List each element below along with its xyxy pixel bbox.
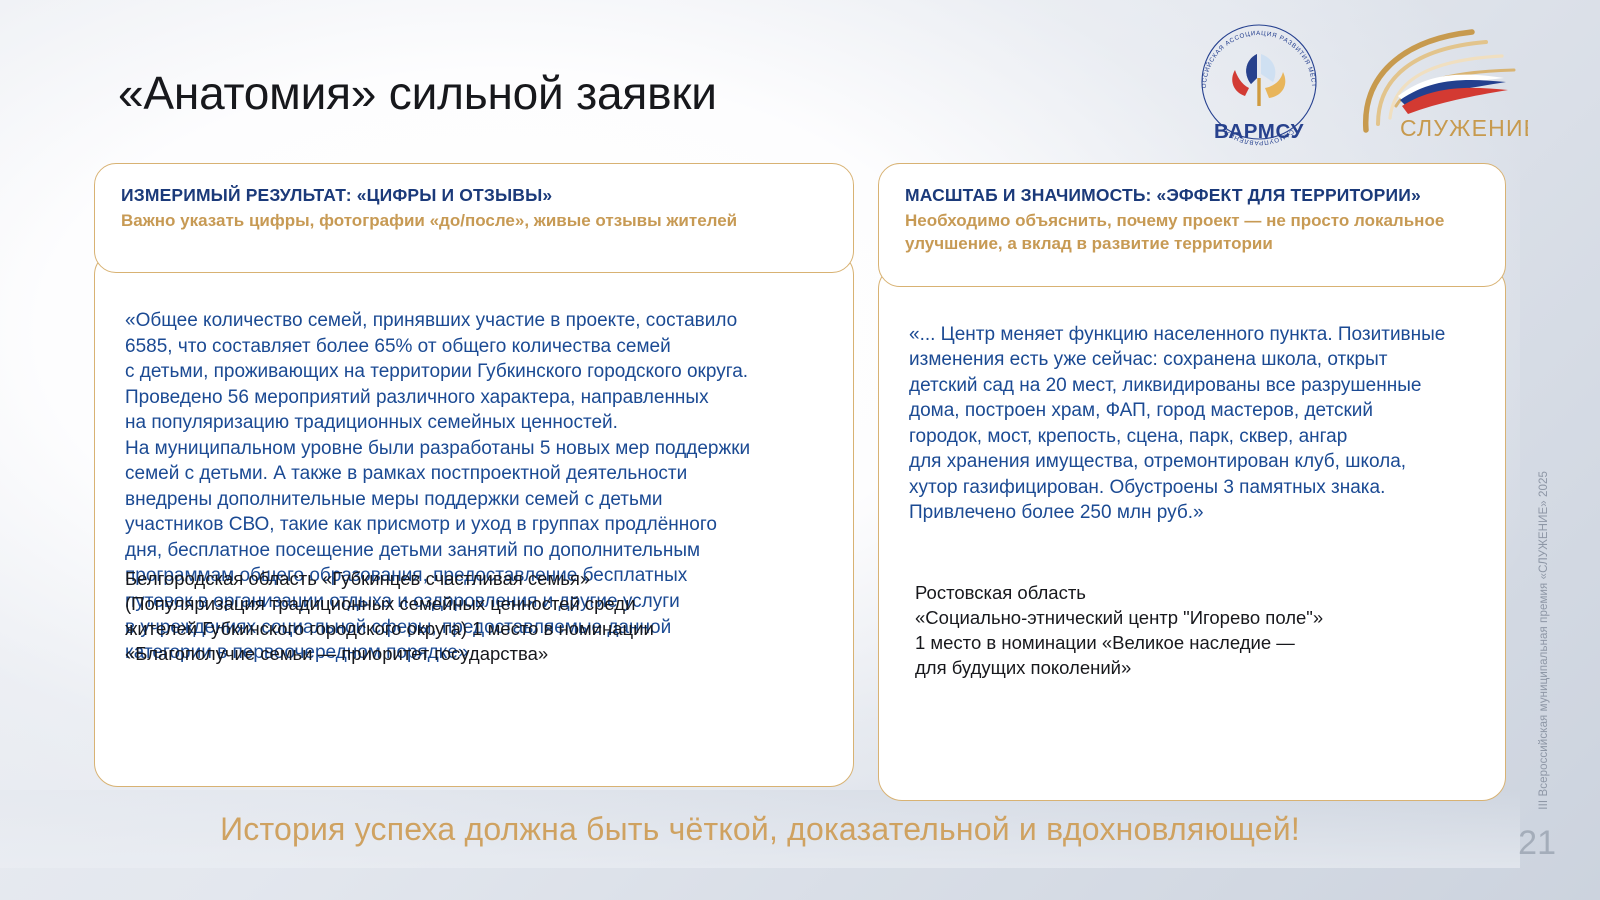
varmsu-logo: ВСЕРОССИЙСКАЯ АССОЦИАЦИЯ РАЗВИТИЯ МЕСТНО…	[1188, 14, 1330, 156]
card-attribution: Белгородская область «Губкинцев счастлив…	[125, 566, 823, 667]
page-title: «Анатомия» сильной заявки	[118, 66, 717, 120]
cards-container: ИЗМЕРИМЫЙ РЕЗУЛЬТАТ: «ЦИФРЫ И ОТЗЫВЫ» Ва…	[94, 163, 1506, 785]
sluzhenie-logo: СЛУЖЕНИЕ	[1352, 26, 1528, 144]
card-scale-significance: МАСШТАБ И ЗНАЧИМОСТЬ: «ЭФФЕКТ ДЛЯ ТЕРРИТ…	[878, 163, 1506, 785]
card-attribution: Ростовская область «Социально-этнический…	[915, 580, 1475, 681]
card-body: Пример «... Центр меняет функцию населен…	[878, 265, 1506, 801]
page-number: 21	[1518, 826, 1556, 860]
card-header: МАСШТАБ И ЗНАЧИМОСТЬ: «ЭФФЕКТ ДЛЯ ТЕРРИТ…	[878, 163, 1506, 287]
card-header-subtitle: Необходимо объяснить, почему проект — не…	[905, 210, 1479, 255]
svg-text:ВАРМСУ: ВАРМСУ	[1214, 120, 1304, 143]
card-header: ИЗМЕРИМЫЙ РЕЗУЛЬТАТ: «ЦИФРЫ И ОТЗЫВЫ» Ва…	[94, 163, 854, 273]
card-quote: «... Центр меняет функцию населенного пу…	[909, 322, 1475, 526]
side-rail-label: III Всероссийская муниципальная премия «…	[1538, 471, 1550, 810]
card-header-title: ИЗМЕРИМЫЙ РЕЗУЛЬТАТ: «ЦИФРЫ И ОТЗЫВЫ»	[121, 184, 827, 206]
card-measurable-result: ИЗМЕРИМЫЙ РЕЗУЛЬТАТ: «ЦИФРЫ И ОТЗЫВЫ» Ва…	[94, 163, 854, 785]
footer-tagline: История успеха должна быть чёткой, доказ…	[220, 811, 1300, 848]
logo-group: ВСЕРОССИЙСКАЯ АССОЦИАЦИЯ РАЗВИТИЯ МЕСТНО…	[1188, 14, 1528, 156]
footer-banner: История успеха должна быть чёткой, доказ…	[0, 790, 1520, 868]
svg-text:СЛУЖЕНИЕ: СЛУЖЕНИЕ	[1400, 115, 1528, 141]
card-header-title: МАСШТАБ И ЗНАЧИМОСТЬ: «ЭФФЕКТ ДЛЯ ТЕРРИТ…	[905, 184, 1479, 206]
card-body: Пример «Общее количество семей, принявши…	[94, 251, 854, 787]
side-rail: III Всероссийская муниципальная премия «…	[1532, 430, 1556, 810]
card-header-subtitle: Важно указать цифры, фотографии «до/посл…	[121, 210, 827, 233]
